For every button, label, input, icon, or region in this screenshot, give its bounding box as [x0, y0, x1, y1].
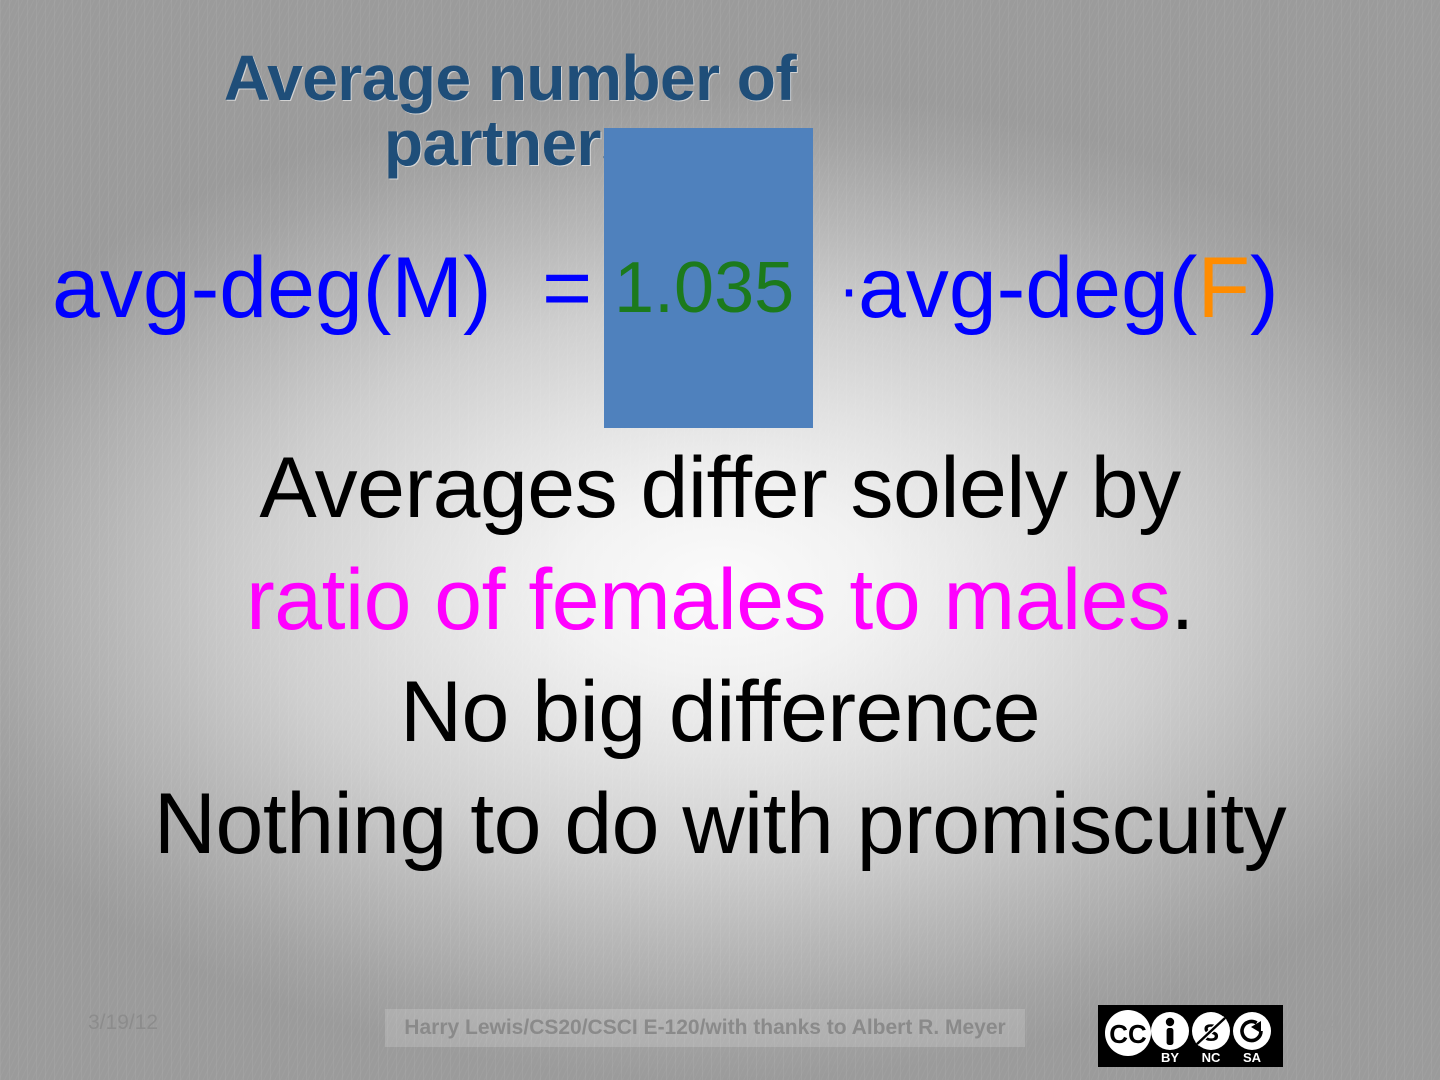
- cc-nc-label: NC: [1202, 1050, 1221, 1065]
- cc-nc-icon: S: [1192, 1012, 1230, 1050]
- footer-credit: Harry Lewis/CS20/CSCI E-120/with thanks …: [385, 1009, 1025, 1047]
- body-line-2: ratio of females to males.: [0, 544, 1440, 656]
- creative-commons-license-icon: CC S BY NC SA: [1098, 1005, 1283, 1067]
- cc-sa-label: SA: [1243, 1050, 1262, 1065]
- formula-rhs-variable: F: [1197, 240, 1250, 336]
- body-line-2-period: .: [1170, 552, 1193, 648]
- formula-multiply-dot: ·: [838, 228, 860, 348]
- formula-coefficient: 1.035: [614, 228, 794, 348]
- cc-by-label: BY: [1161, 1050, 1179, 1065]
- body-line-2-highlight: ratio of females to males: [246, 552, 1170, 648]
- svg-text:CC: CC: [1109, 1019, 1147, 1049]
- body-line-4: Nothing to do with promiscuity: [0, 768, 1440, 880]
- formula-rhs-suffix: ): [1250, 240, 1279, 336]
- formula-rhs-prefix: avg-deg(: [858, 240, 1197, 336]
- footer-date: 3/19/12: [88, 1011, 158, 1035]
- slide-canvas: Average number of partners avg-deg(M) = …: [0, 0, 1440, 1080]
- body-line-1: Averages differ solely by: [0, 432, 1440, 544]
- cc-by-icon: [1151, 1012, 1189, 1050]
- formula-equation: avg-deg(M) = 1.035 · avg-deg(F): [0, 228, 1440, 348]
- formula-rhs: avg-deg(F): [858, 228, 1279, 348]
- footer-page-number: 14: [1316, 1011, 1340, 1037]
- formula-equals-sign: =: [542, 228, 592, 348]
- cc-mark-icon: CC: [1105, 1010, 1151, 1056]
- body-text-block: Averages differ solely by ratio of femal…: [0, 432, 1440, 880]
- formula-lhs: avg-deg(M): [52, 228, 492, 348]
- body-line-3: No big difference: [0, 656, 1440, 768]
- page-title-line-1: Average number of: [224, 42, 796, 114]
- cc-sa-icon: [1233, 1012, 1271, 1050]
